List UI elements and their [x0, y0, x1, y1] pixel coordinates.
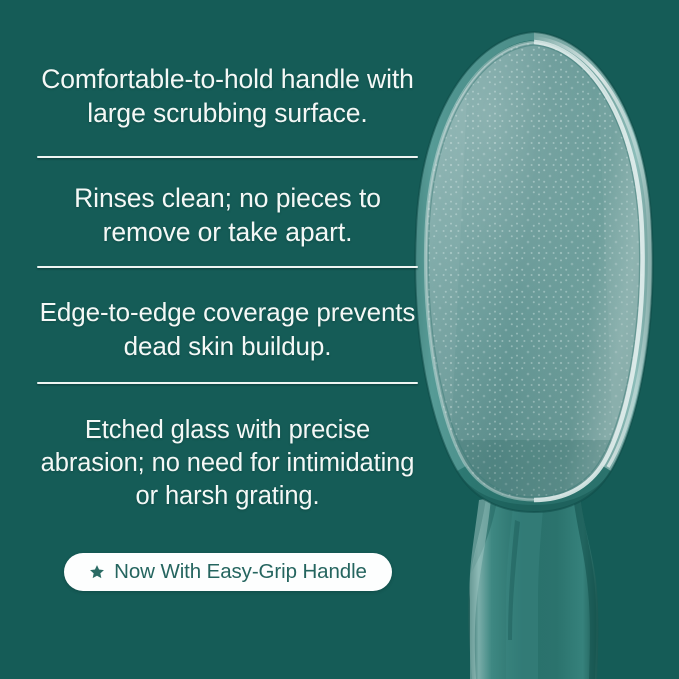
product-handle [468, 470, 598, 679]
feature-item-etched-glass: Etched glass with precise abrasion; no n… [37, 414, 418, 513]
feature-line: Rinses clean; no pieces to [37, 181, 418, 215]
product-paddle [415, 32, 653, 512]
feature-line: remove or take apart. [37, 215, 418, 249]
product-glass-surface [410, 30, 660, 510]
feature-divider-3 [37, 382, 418, 384]
infographic-canvas: Comfortable-to-hold handle with large sc… [0, 0, 679, 679]
star-icon [89, 564, 105, 580]
feature-line: dead skin buildup. [37, 330, 418, 364]
feature-divider-2 [37, 266, 418, 268]
feature-line: Comfortable-to-hold handle with [37, 62, 418, 96]
product-glass-rim [425, 38, 649, 500]
feature-item-comfortable-handle: Comfortable-to-hold handle with large sc… [37, 62, 418, 131]
feature-divider-1 [37, 156, 418, 158]
feature-line: abrasion; no need for intimidating [37, 447, 418, 480]
feature-line: Etched glass with precise [37, 414, 418, 447]
feature-line: or harsh grating. [37, 480, 418, 513]
easy-grip-handle-badge: Now With Easy-Grip Handle [64, 553, 392, 591]
feature-line: large scrubbing surface. [37, 96, 418, 130]
feature-item-rinses-clean: Rinses clean; no pieces to remove or tak… [37, 181, 418, 250]
product-outline [415, 32, 653, 512]
feature-line: Edge-to-edge coverage prevents [37, 296, 418, 330]
badge-label: Now With Easy-Grip Handle [114, 562, 367, 583]
feature-item-edge-to-edge-coverage: Edge-to-edge coverage prevents dead skin… [37, 296, 418, 364]
